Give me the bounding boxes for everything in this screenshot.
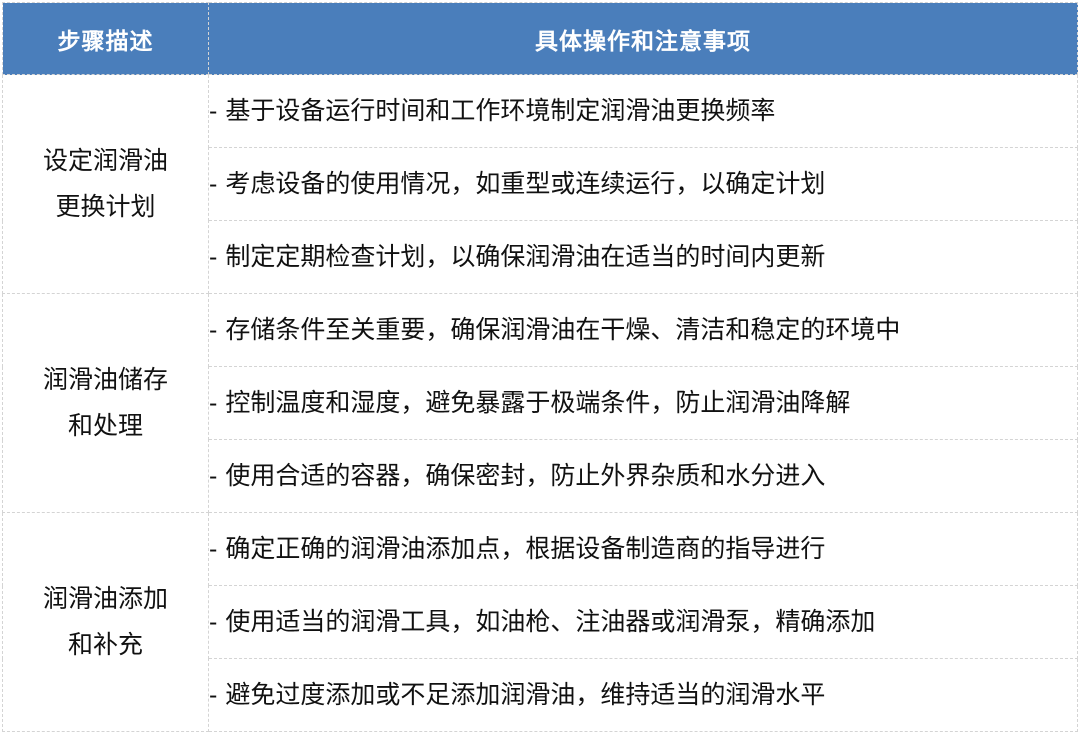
detail-cell: -考虑设备的使用情况，如重型或连续运行，以确定计划	[209, 148, 1078, 221]
detail-text: 考虑设备的使用情况，如重型或连续运行，以确定计划	[225, 170, 825, 198]
bullet-dash: -	[209, 678, 217, 713]
detail-text: 控制温度和湿度，避免暴露于极端条件，防止润滑油降解	[225, 389, 850, 417]
detail-text: 基于设备运行时间和工作环境制定润滑油更换频率	[225, 97, 775, 125]
bullet-dash: -	[209, 532, 217, 567]
detail-cell: -存储条件至关重要，确保润滑油在干燥、清洁和稳定的环境中	[209, 294, 1078, 367]
step-label-line: 和处理	[3, 403, 208, 449]
lubrication-steps-table: 步骤描述 具体操作和注意事项 设定润滑油 更换计划 -基于设备运行时间和工作环境…	[2, 2, 1078, 732]
bullet-dash: -	[209, 605, 217, 640]
detail-cell: -确定正确的润滑油添加点，根据设备制造商的指导进行	[209, 513, 1078, 586]
bullet-dash: -	[209, 167, 217, 202]
table-row: 设定润滑油 更换计划 -基于设备运行时间和工作环境制定润滑油更换频率	[3, 75, 1078, 148]
step-cell-group-3: 润滑油添加 和补充	[3, 513, 209, 732]
detail-cell: -使用适当的润滑工具，如油枪、注油器或润滑泵，精确添加	[209, 586, 1078, 659]
column-header-detail: 具体操作和注意事项	[209, 3, 1078, 75]
detail-cell: -制定定期检查计划，以确保润滑油在适当的时间内更新	[209, 221, 1078, 294]
detail-text: 存储条件至关重要，确保润滑油在干燥、清洁和稳定的环境中	[225, 316, 900, 344]
detail-cell: -避免过度添加或不足添加润滑油，维持适当的润滑水平	[209, 659, 1078, 732]
table-body: 设定润滑油 更换计划 -基于设备运行时间和工作环境制定润滑油更换频率 -考虑设备…	[3, 75, 1078, 732]
step-cell-group-1: 设定润滑油 更换计划	[3, 75, 209, 294]
step-label-line: 润滑油储存	[3, 357, 208, 403]
step-label-line: 和补充	[3, 622, 208, 668]
table-header: 步骤描述 具体操作和注意事项	[3, 3, 1078, 75]
bullet-dash: -	[209, 240, 217, 275]
detail-text: 使用合适的容器，确保密封，防止外界杂质和水分进入	[225, 462, 825, 490]
step-label-line: 润滑油添加	[3, 576, 208, 622]
header-row: 步骤描述 具体操作和注意事项	[3, 3, 1078, 75]
step-cell-group-2: 润滑油储存 和处理	[3, 294, 209, 513]
detail-text: 制定定期检查计划，以确保润滑油在适当的时间内更新	[225, 243, 825, 271]
table-container: 步骤描述 具体操作和注意事项 设定润滑油 更换计划 -基于设备运行时间和工作环境…	[0, 0, 1080, 734]
bullet-dash: -	[209, 459, 217, 494]
detail-text: 确定正确的润滑油添加点，根据设备制造商的指导进行	[225, 535, 825, 563]
bullet-dash: -	[209, 313, 217, 348]
table-row: 润滑油添加 和补充 -确定正确的润滑油添加点，根据设备制造商的指导进行	[3, 513, 1078, 586]
detail-cell: -使用合适的容器，确保密封，防止外界杂质和水分进入	[209, 440, 1078, 513]
table-row: 润滑油储存 和处理 -存储条件至关重要，确保润滑油在干燥、清洁和稳定的环境中	[3, 294, 1078, 367]
detail-cell: -基于设备运行时间和工作环境制定润滑油更换频率	[209, 75, 1078, 148]
step-label-line: 设定润滑油	[3, 138, 208, 184]
step-label-line: 更换计划	[3, 184, 208, 230]
column-header-step: 步骤描述	[3, 3, 209, 75]
bullet-dash: -	[209, 386, 217, 421]
detail-cell: -控制温度和湿度，避免暴露于极端条件，防止润滑油降解	[209, 367, 1078, 440]
detail-text: 使用适当的润滑工具，如油枪、注油器或润滑泵，精确添加	[225, 608, 875, 636]
bullet-dash: -	[209, 94, 217, 129]
detail-text: 避免过度添加或不足添加润滑油，维持适当的润滑水平	[225, 681, 825, 709]
